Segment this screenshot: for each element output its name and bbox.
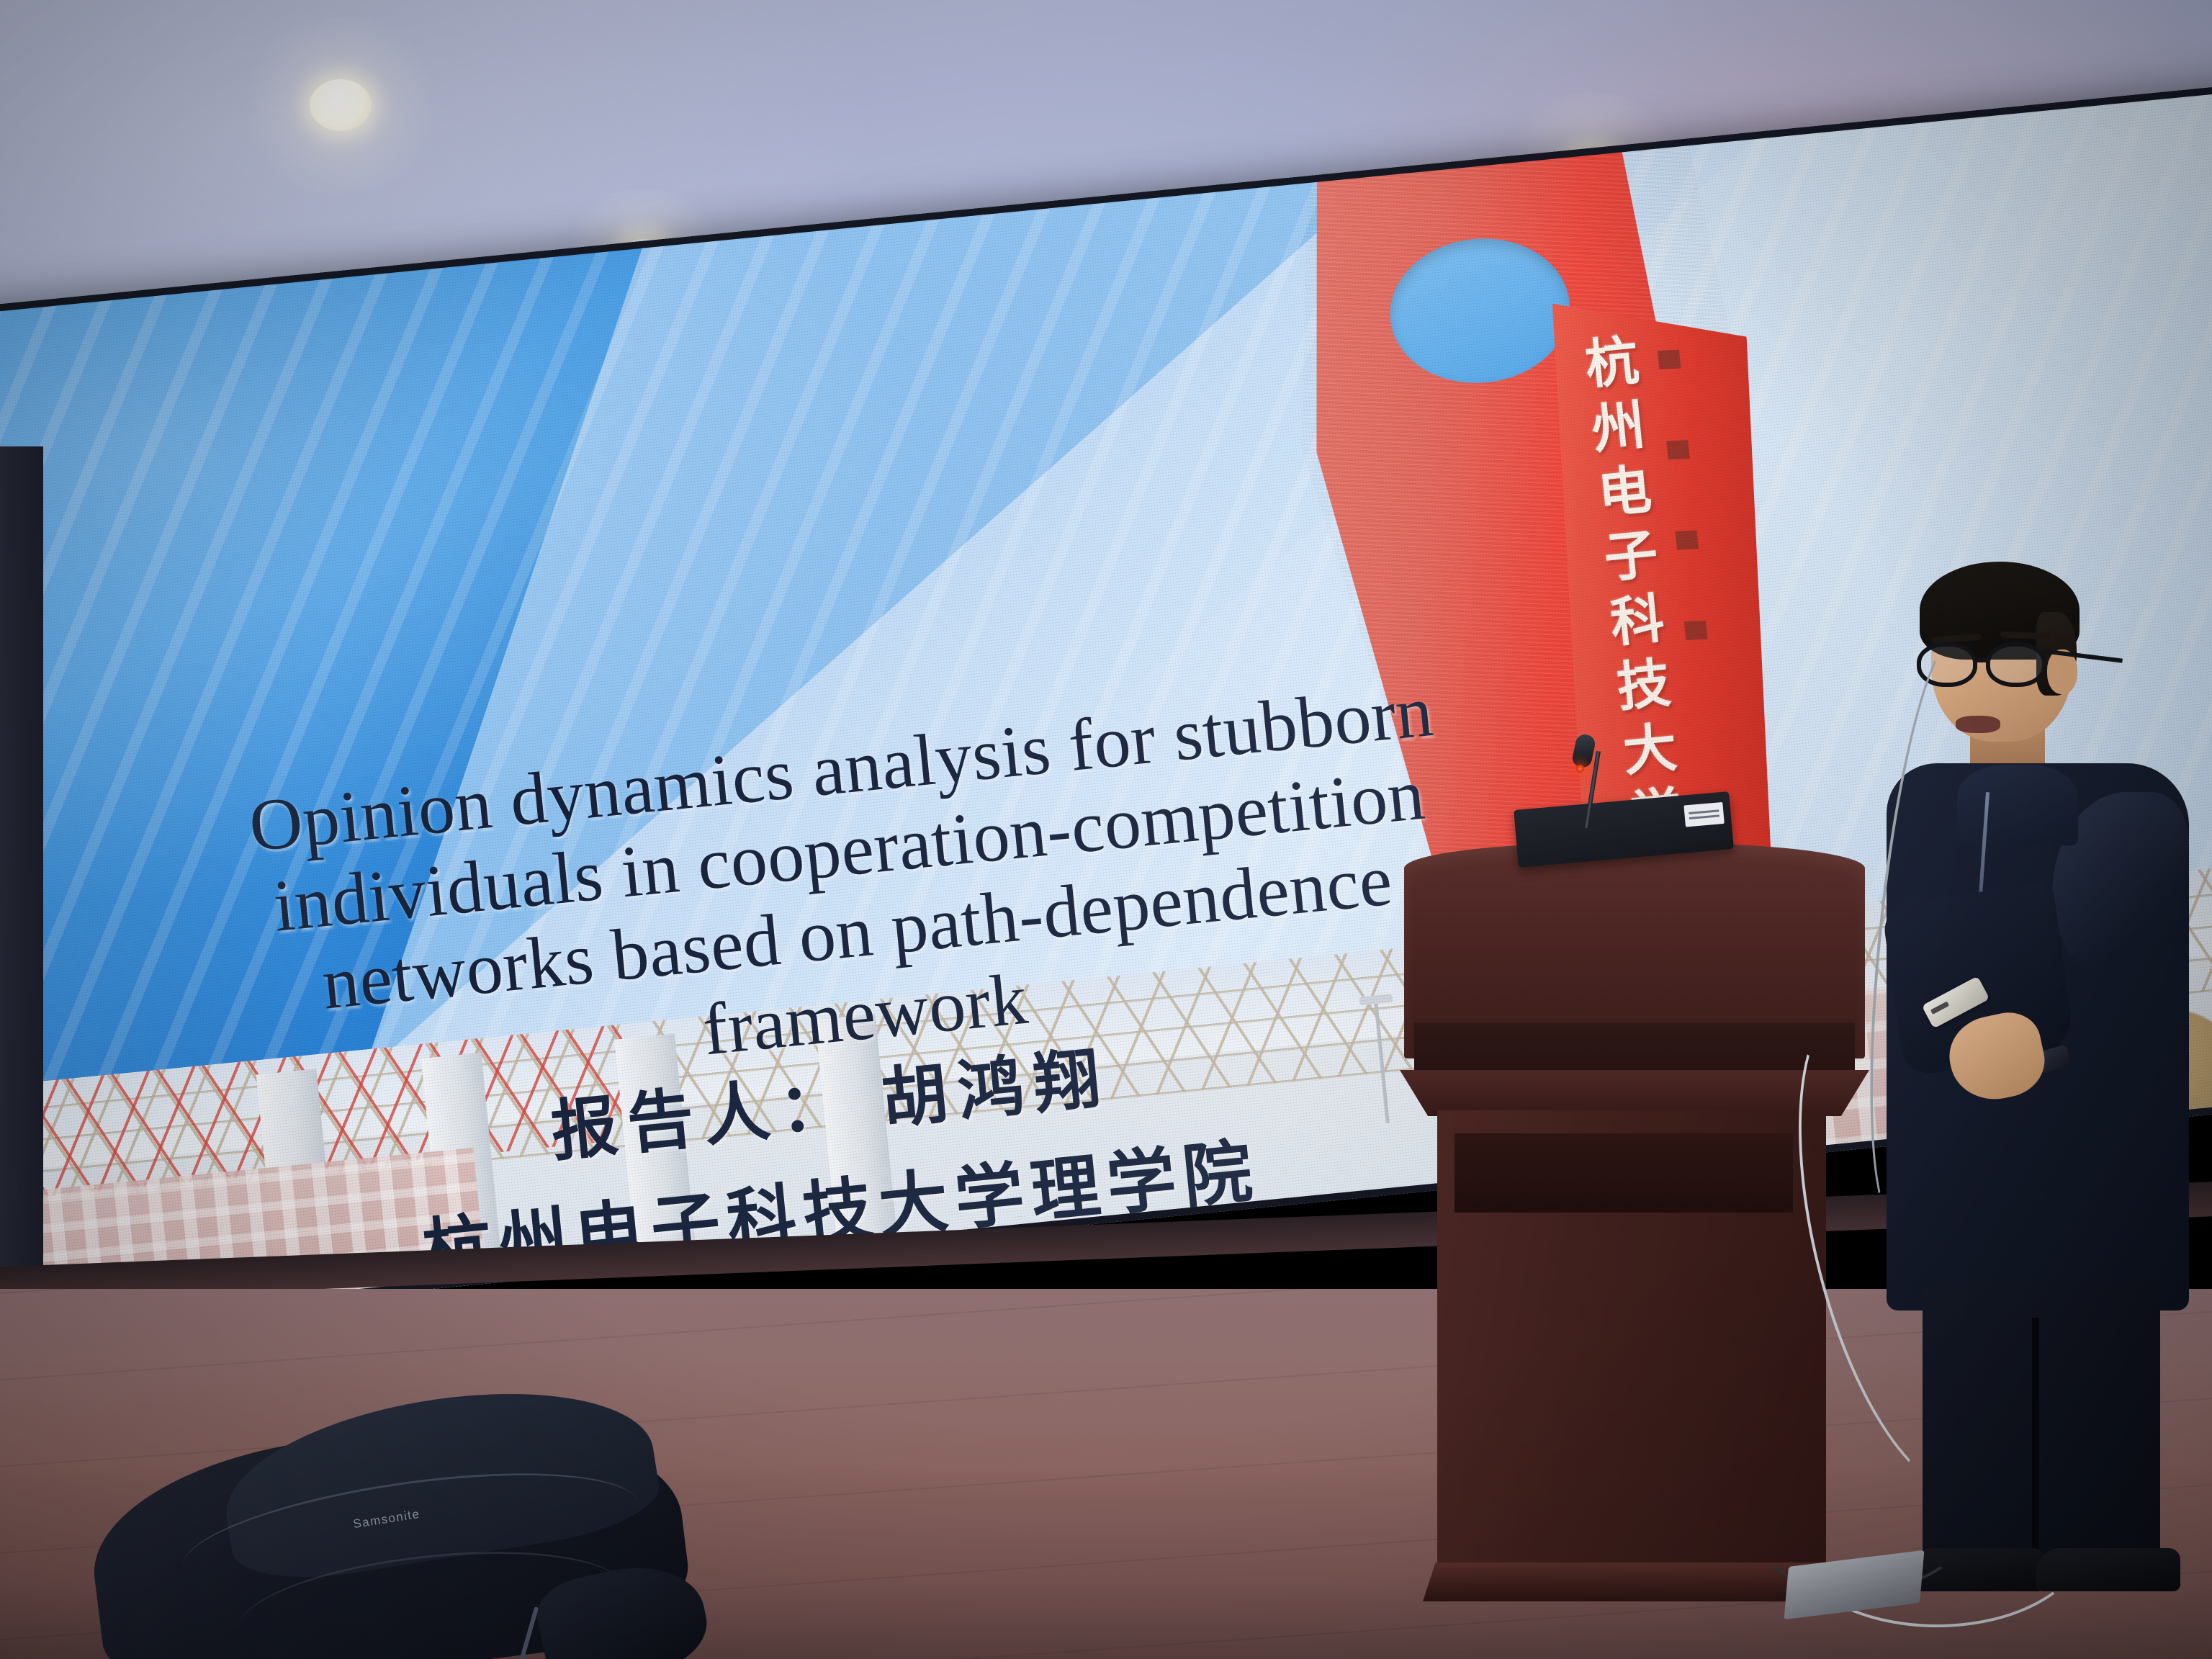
recessed-downlight [310,79,372,131]
lectern-front-panel [1455,1133,1793,1213]
glasses-bridge [1976,658,1989,662]
downlight-bulb [310,79,372,131]
glasses-lens-right [1986,642,2046,687]
left-wall-edge [0,446,43,1354]
backpack: Samsonite [94,1390,742,1659]
scene-root: 杭州电子科技大学 [0,0,2212,1659]
glasses-temple [2044,649,2123,662]
laptop-sticker [1683,802,1724,827]
microphone-led-indicator [1576,765,1584,773]
